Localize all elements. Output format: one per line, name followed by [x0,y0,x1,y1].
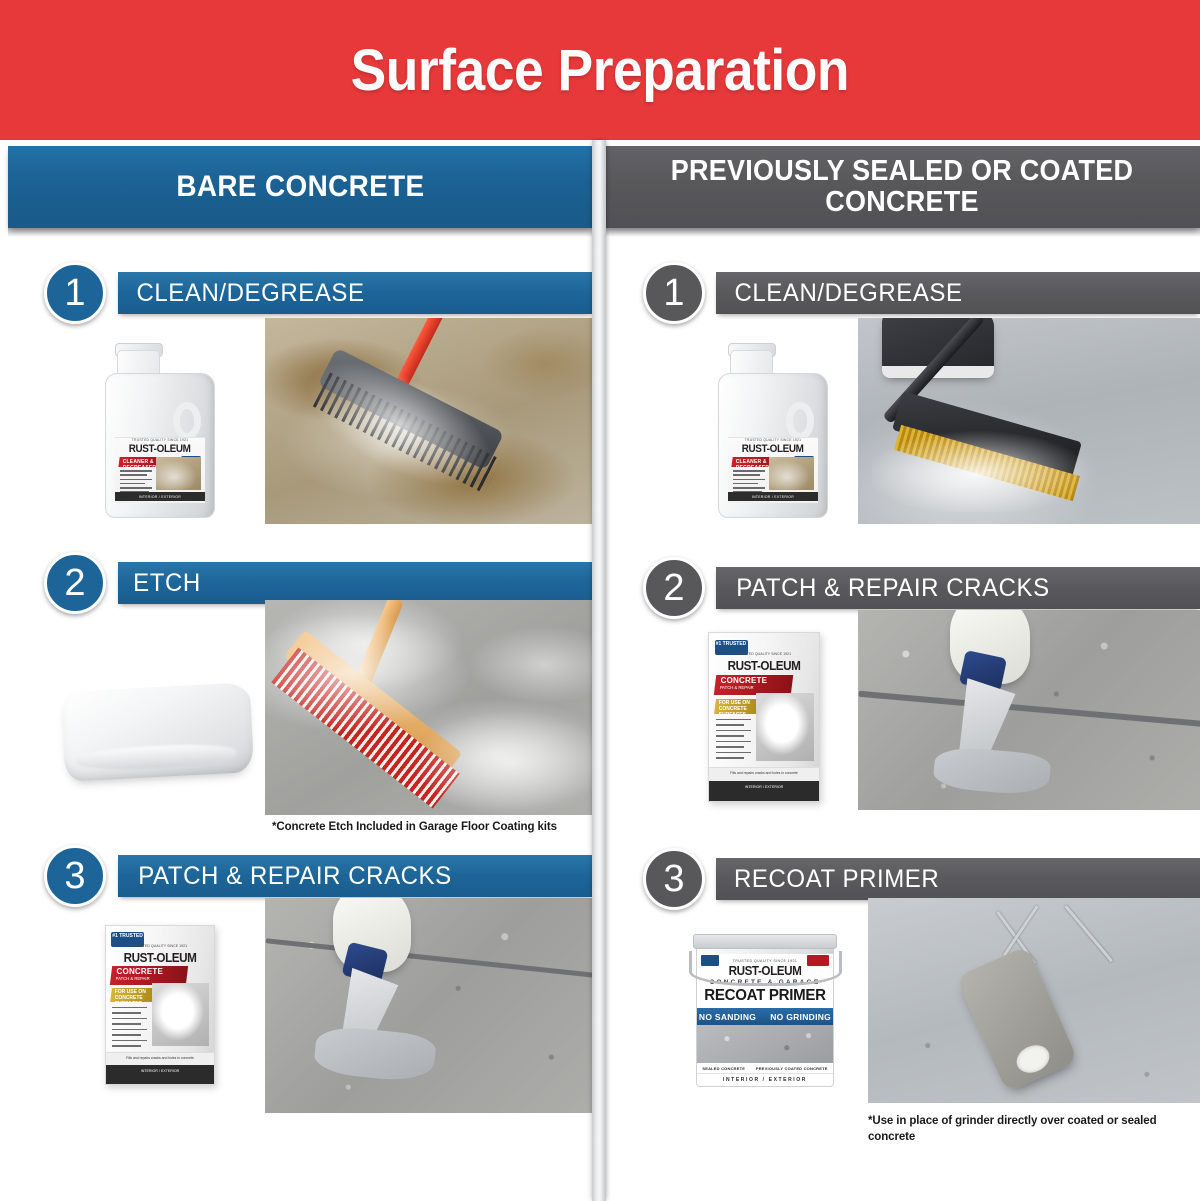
product-name: RECOAT PRIMER [701,987,829,1005]
photo-right-step2-patch-repair [858,610,1200,810]
product-name: CONCRETE [112,966,188,976]
carton-footnote-band: Fills and repairs cracks and holes in co… [106,1052,214,1065]
jug-handle [786,402,814,439]
step-number-left-3: 3 [44,845,106,907]
product-tagline: TRUSTED QUALITY SINCE 1921 [728,438,817,442]
step-number-right-3: 3 [643,848,705,910]
carton-footer-band: INTERIOR / EXTERIOR [709,781,819,801]
product-name-band: CONCRETE PATCH & REPAIR [110,966,188,985]
column-header-previously-sealed: PREVIOUSLY SEALED OR COATED CONCRETE [604,146,1200,228]
step-bar-left-1: CLEAN/DEGREASE [118,272,592,314]
column-header-shadow-left [8,228,593,237]
carton-face: #1 TRUSTED TRUSTED QUALITY SINCE 1921 RU… [105,925,215,1085]
carton-photo [756,693,813,760]
surface-sealed-concrete: SEALED CONCRETE [702,1066,745,1071]
product-footer: INTERIOR / EXTERIOR [723,1077,807,1083]
photo-right-step1-clean-degrease [858,318,1200,524]
product-footer-band: INTERIOR / EXTERIOR [728,492,817,501]
step-label-right-2: PATCH & REPAIR CRACKS [723,574,1050,603]
photo-left-step3-patch-repair [265,898,598,1113]
step-bar-left-3: PATCH & REPAIR CRACKS [118,855,592,897]
carton-bullet-lines [112,1007,147,1051]
step-number-text: 2 [663,567,684,610]
carton-graphic: #1 TRUSTED TRUSTED QUALITY SINCE 1921 RU… [708,632,820,802]
can-lid [693,934,837,949]
step-label-left-2: ETCH [120,569,201,598]
product-subname: PATCH & REPAIR [111,976,187,981]
step-bar-right-1: CLEAN/DEGREASE [716,272,1200,314]
claim-no-sanding: NO SANDING [699,1012,756,1022]
product-patch-repair-left: #1 TRUSTED TRUSTED QUALITY SINCE 1921 RU… [105,925,215,1085]
jug-body: TRUSTED QUALITY SINCE 1921 RUST-OLEUM CL… [718,373,829,518]
photo-left-step2-etch [265,600,598,815]
column-header-label: BARE CONCRETE [176,171,424,203]
soap-foam [872,426,1102,512]
product-name-band: CONCRETE PATCH & REPAIR [713,675,792,695]
photo-right-step3-recoat-primer [868,898,1200,1103]
product-name: CONCRETE [715,675,792,685]
step-label-right-1: CLEAN/DEGREASE [721,279,963,308]
product-highlight: FOR USE ON CONCRETE SURFACES [714,699,758,718]
crack-line [858,691,1200,727]
product-footer: INTERIOR / EXTERIOR [728,492,817,499]
jug-graphic: TRUSTED QUALITY SINCE 1921 RUST-OLEUM CL… [97,343,223,518]
product-claims-band: NO SANDING NO GRINDING [697,1008,833,1025]
step-number-text: 3 [663,858,684,901]
step-number-text: 1 [663,272,684,315]
product-brand: RUST-OLEUM [733,443,813,455]
carton-footer: INTERIOR / EXTERIOR [106,1065,214,1073]
step-number-left-2: 2 [44,552,106,614]
step-number-right-1: 1 [643,262,705,324]
jug-label: TRUSTED QUALITY SINCE 1921 RUST-OLEUM CL… [728,437,817,503]
product-cleaner-degreaser-left: TRUSTED QUALITY SINCE 1921 RUST-OLEUM CL… [97,343,223,518]
can-bail-handle [689,951,842,987]
product-brand: RUST-OLEUM [111,950,208,965]
product-tagline: TRUSTED QUALITY SINCE 1921 [106,944,214,948]
carton-footnote-band: Fills and repairs cracks and holes in co… [709,767,819,780]
can-graphic: TRUSTED QUALITY SINCE 1921 RUST-OLEUM CO… [690,928,840,1090]
product-tagline: TRUSTED QUALITY SINCE 1921 [709,652,819,656]
paint-roller-icon [956,946,1079,1093]
step-number-left-1: 1 [44,262,106,324]
column-header-label: PREVIOUSLY SEALED OR COATED CONCRETE [625,156,1179,219]
step-number-text: 3 [64,855,85,898]
claim-no-grinding: NO GRINDING [770,1012,831,1022]
foam-streak [285,334,516,515]
product-label-photo [769,457,814,489]
product-label-photo [156,457,201,489]
carton-footnote: Fills and repairs cracks and holes in co… [709,768,819,775]
product-footer-band: INTERIOR / EXTERIOR [697,1073,833,1086]
product-cleaner-degreaser-right: TRUSTED QUALITY SINCE 1921 RUST-OLEUM CL… [710,343,836,518]
jug-handle [173,402,201,439]
photo-left-step1-clean-degrease [265,318,598,524]
jug-graphic: TRUSTED QUALITY SINCE 1921 RUST-OLEUM CL… [710,343,836,518]
step-label-left-3: PATCH & REPAIR CRACKS [125,862,452,891]
footnote-left: *Concrete Etch Included in Garage Floor … [272,820,602,836]
product-patch-repair-right: #1 TRUSTED TRUSTED QUALITY SINCE 1921 RU… [708,632,820,802]
column-header-shadow-right [604,228,1200,237]
product-concrete-etch-bag [55,665,260,805]
carton-graphic: #1 TRUSTED TRUSTED QUALITY SINCE 1921 RU… [105,925,215,1085]
page-header-banner: Surface Preparation [0,0,1200,140]
step-bar-right-3: RECOAT PRIMER [716,858,1200,900]
column-divider [592,140,606,1201]
footnote-right: *Use in place of grinder directly over c… [868,1114,1168,1145]
carton-face: #1 TRUSTED TRUSTED QUALITY SINCE 1921 RU… [708,632,820,802]
step-bar-left-2: ETCH [118,562,592,604]
page-title: Surface Preparation [351,37,849,104]
etch-foam [265,600,598,815]
product-tagline: TRUSTED QUALITY SINCE 1921 [115,438,204,442]
step-number-text: 2 [64,562,85,605]
product-brand: RUST-OLEUM [120,443,200,455]
product-subname: PATCH & REPAIR [714,685,791,690]
carton-bullet-lines [716,719,751,763]
step-label-right-3: RECOAT PRIMER [721,865,940,894]
jug-body: TRUSTED QUALITY SINCE 1921 RUST-OLEUM CL… [105,373,216,518]
column-header-bare-concrete: BARE CONCRETE [8,146,593,228]
can-label-photo [697,1025,833,1063]
product-surfaces-band: SEALED CONCRETE PREVIOUSLY COATED CONCRE… [697,1063,833,1073]
patch-material [313,1024,437,1084]
product-brand: RUST-OLEUM [715,658,814,673]
jug-label: TRUSTED QUALITY SINCE 1921 RUST-OLEUM CL… [115,437,204,503]
crack-line [266,938,598,979]
product-footer-band: INTERIOR / EXTERIOR [115,492,204,501]
step-label-left-1: CLEAN/DEGREASE [123,279,365,308]
bag-graphic [55,665,260,805]
step-bar-right-2: PATCH & REPAIR CRACKS [716,567,1200,609]
product-footer: INTERIOR / EXTERIOR [115,492,204,499]
step-number-right-2: 2 [643,557,705,619]
product-highlight-band: FOR USE ON CONCRETE SURFACES [714,699,760,714]
carton-photo [152,983,208,1046]
product-recoat-primer: TRUSTED QUALITY SINCE 1921 RUST-OLEUM CO… [690,928,840,1090]
product-highlight: FOR USE ON CONCRETE SURFACES [111,988,154,1007]
carton-footnote: Fills and repairs cracks and holes in co… [106,1053,214,1060]
roller-frame-segment-3 [1064,905,1113,962]
surface-coated-concrete: PREVIOUSLY COATED CONCRETE [756,1066,828,1071]
product-highlight-band: FOR USE ON CONCRETE SURFACES [111,988,156,1002]
carton-footer-band: INTERIOR / EXTERIOR [106,1065,214,1084]
step-number-text: 1 [64,272,85,315]
carton-footer: INTERIOR / EXTERIOR [709,781,819,789]
patch-material [932,745,1051,797]
